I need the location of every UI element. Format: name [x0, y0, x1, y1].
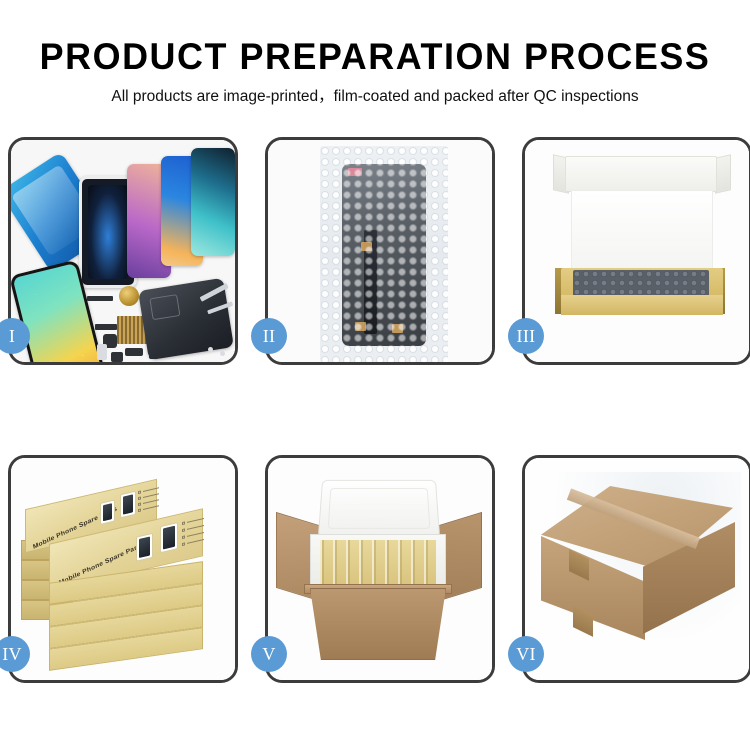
carton-front-panel [310, 588, 446, 660]
bubble-wrapped-contents [573, 270, 709, 298]
foam-cooler-lid [318, 480, 440, 538]
step-2-image [268, 140, 492, 362]
box-checkbox-front-3 [182, 535, 185, 539]
box-phone-image-front-b [160, 522, 178, 553]
process-step-6: VI [522, 455, 750, 683]
box-phone-image-rear-a [100, 499, 115, 524]
lcd-connector-b [355, 322, 366, 331]
box-phone-image-front-a [136, 533, 153, 562]
earpiece-part [87, 296, 113, 301]
step-3-image [525, 140, 749, 362]
step-badge-6: VI [508, 636, 544, 672]
packed-kraft-boxes [320, 540, 436, 584]
box-lid-right-flap [715, 154, 731, 193]
box-checkline-rear-4 [143, 505, 159, 510]
bubble-wrap-bag [320, 146, 448, 362]
kraft-box-front-panel [561, 295, 723, 315]
box-checkline-front-3 [187, 532, 204, 537]
step-5-image [268, 458, 492, 680]
process-step-5: V [265, 455, 495, 683]
lcd-connector-a [361, 242, 372, 251]
box-checkline-rear-3 [143, 499, 159, 504]
box-checkline-front-4 [187, 539, 204, 544]
process-step-2: II [265, 137, 495, 365]
foam-padding-sheet [571, 190, 713, 272]
phone-teal [191, 148, 235, 256]
box-checkbox-rear-2 [138, 496, 141, 500]
box-checkline-rear-1 [143, 487, 159, 492]
product-preparation-infographic: PRODUCT PREPARATION PROCESS All products… [0, 0, 750, 750]
header: PRODUCT PREPARATION PROCESS All products… [0, 0, 750, 108]
vibrator-part [125, 348, 143, 356]
step-badge-2: II [251, 318, 287, 354]
box-stack: Mobile Phone Spare Parts [17, 474, 235, 670]
step-1-image [11, 140, 235, 362]
box-checkbox-front-1 [182, 521, 185, 525]
box-lid [565, 156, 717, 192]
page-title: PRODUCT PREPARATION PROCESS [11, 36, 739, 78]
bubble-wrapped-lcd-photo [268, 140, 492, 362]
step-4-image: Mobile Phone Spare Parts [11, 458, 235, 680]
screw-b [208, 347, 213, 352]
step-badge-5: V [251, 636, 287, 672]
process-step-grid: I II [8, 137, 742, 683]
page-subtitle: All products are image-printed，film-coat… [0, 86, 750, 108]
carton-with-foam-photo [268, 458, 492, 680]
pink-label-tag [348, 168, 362, 176]
button-part [111, 352, 123, 362]
box-checkline-front-1 [187, 518, 204, 523]
sim-tray [97, 344, 107, 360]
box-checkline-front-2 [187, 525, 204, 530]
box-checkbox-front-2 [182, 528, 185, 532]
open-foam-box-photo [525, 140, 749, 362]
lcd-assembly [342, 164, 426, 346]
step-badge-3: III [508, 318, 544, 354]
phone-parts-photo [11, 140, 235, 362]
process-step-4: Mobile Phone Spare Parts [8, 455, 238, 683]
screw-a [220, 351, 225, 356]
step-6-image [525, 458, 749, 680]
box-phone-image-rear-b [120, 491, 136, 519]
process-step-1: I [8, 137, 238, 365]
speaker-part [119, 286, 139, 306]
box-checkline-rear-2 [143, 493, 159, 498]
box-checkbox-rear-3 [138, 502, 141, 506]
process-step-3: III [522, 137, 750, 365]
sealed-carton-photo [525, 458, 749, 680]
box-checkbox-rear-1 [138, 490, 141, 494]
flex-cable-a [95, 324, 117, 330]
lcd-connector-c [392, 324, 403, 333]
box-checkbox-rear-4 [138, 508, 141, 512]
stacked-retail-boxes-photo: Mobile Phone Spare Parts [11, 458, 235, 680]
box-checkbox-front-4 [182, 542, 185, 546]
